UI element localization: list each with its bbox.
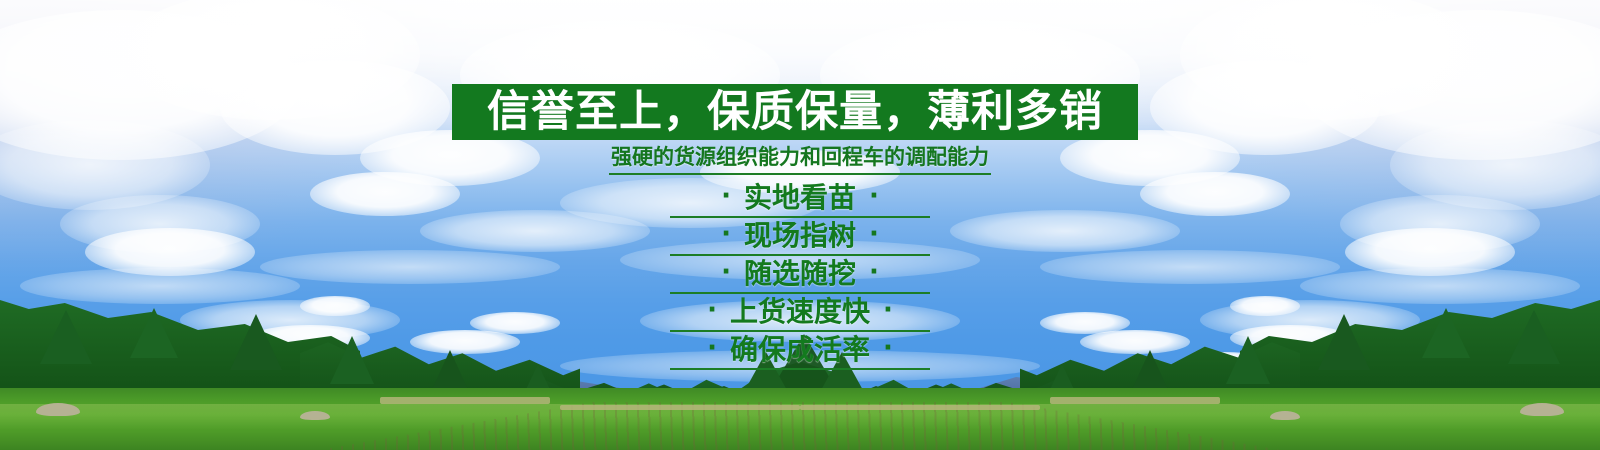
banner-text-overlay: 信誉至上，保质保量，薄利多销 强硬的货源组织能力和回程车的调配能力 · 实地看苗… <box>0 0 1600 450</box>
feature-list: · 实地看苗 · · 现场指树 · · 随选随挖 · <box>0 180 1600 370</box>
feature-item: · 上货速度快 · <box>0 294 1600 332</box>
feature-item-inner: · 实地看苗 · <box>670 180 930 218</box>
bullet-dot-right: · <box>883 297 893 328</box>
subtitle-text: 强硬的货源组织能力和回程车的调配能力 <box>609 144 991 175</box>
feature-label: 随选随挖 <box>744 260 856 288</box>
bullet-dot-right: · <box>869 259 879 290</box>
feature-label: 确保成活率 <box>730 336 870 364</box>
bullet-dot-left: · <box>721 221 731 252</box>
subtitle-row: 强硬的货源组织能力和回程车的调配能力 <box>0 144 1600 175</box>
feature-label: 实地看苗 <box>744 184 856 212</box>
headline-text: 信誉至上，保质保量，薄利多销 <box>487 91 1103 134</box>
feature-item-inner: · 上货速度快 · <box>670 294 930 332</box>
headline-bar: 信誉至上，保质保量，薄利多销 <box>452 84 1138 140</box>
bullet-dot-left: · <box>707 335 717 366</box>
bullet-dot-right: · <box>883 335 893 366</box>
bullet-dot-left: · <box>721 259 731 290</box>
bullet-dot-right: · <box>869 183 879 214</box>
feature-item: · 确保成活率 · <box>0 332 1600 370</box>
feature-item-inner: · 现场指树 · <box>670 218 930 256</box>
feature-item: · 实地看苗 · <box>0 180 1600 218</box>
bullet-dot-left: · <box>707 297 717 328</box>
feature-item-inner: · 确保成活率 · <box>670 332 930 370</box>
promo-banner: 信誉至上，保质保量，薄利多销 强硬的货源组织能力和回程车的调配能力 · 实地看苗… <box>0 0 1600 450</box>
bullet-dot-left: · <box>721 183 731 214</box>
feature-label: 上货速度快 <box>730 298 870 326</box>
bullet-dot-right: · <box>869 221 879 252</box>
feature-item-inner: · 随选随挖 · <box>670 256 930 294</box>
feature-item: · 现场指树 · <box>0 218 1600 256</box>
feature-label: 现场指树 <box>744 222 856 250</box>
feature-item: · 随选随挖 · <box>0 256 1600 294</box>
